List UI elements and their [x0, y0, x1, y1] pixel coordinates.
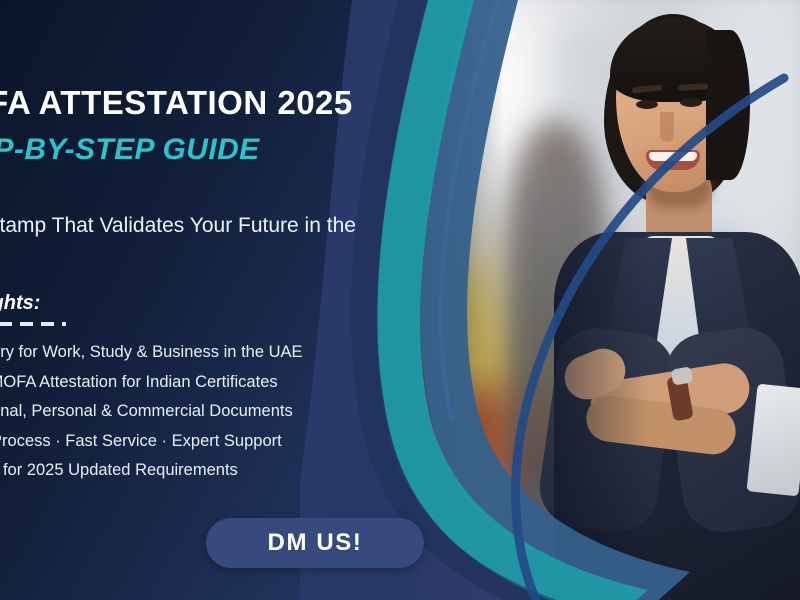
- highlights-label: Highlights:: [0, 292, 40, 315]
- list-item: MEA + MOFA Attestation for Indian Certif…: [0, 368, 366, 398]
- tagline-quote: "The Stamp That Validates Your Future in…: [0, 209, 356, 277]
- page-subtitle: STEP-BY-STEP GUIDE: [0, 133, 404, 167]
- promo-poster: MOFA ATTESTATION 2025 STEP-BY-STEP GUIDE…: [0, 0, 800, 600]
- list-item: Simple Process · Fast Service · Expert S…: [0, 427, 366, 457]
- dm-us-button[interactable]: DM US!: [206, 518, 424, 568]
- dashed-divider: [0, 322, 66, 326]
- page-title: MOFA ATTESTATION 2025: [0, 84, 404, 122]
- list-item: Mandatory for Work, Study & Business in …: [0, 338, 366, 368]
- list-item: Updated for 2025 Updated Requirements: [0, 456, 366, 486]
- text-content: MOFA ATTESTATION 2025 STEP-BY-STEP GUIDE…: [0, 0, 404, 600]
- list-item: Educational, Personal & Commercial Docum…: [0, 397, 366, 427]
- highlights-list: Mandatory for Work, Study & Business in …: [0, 338, 366, 486]
